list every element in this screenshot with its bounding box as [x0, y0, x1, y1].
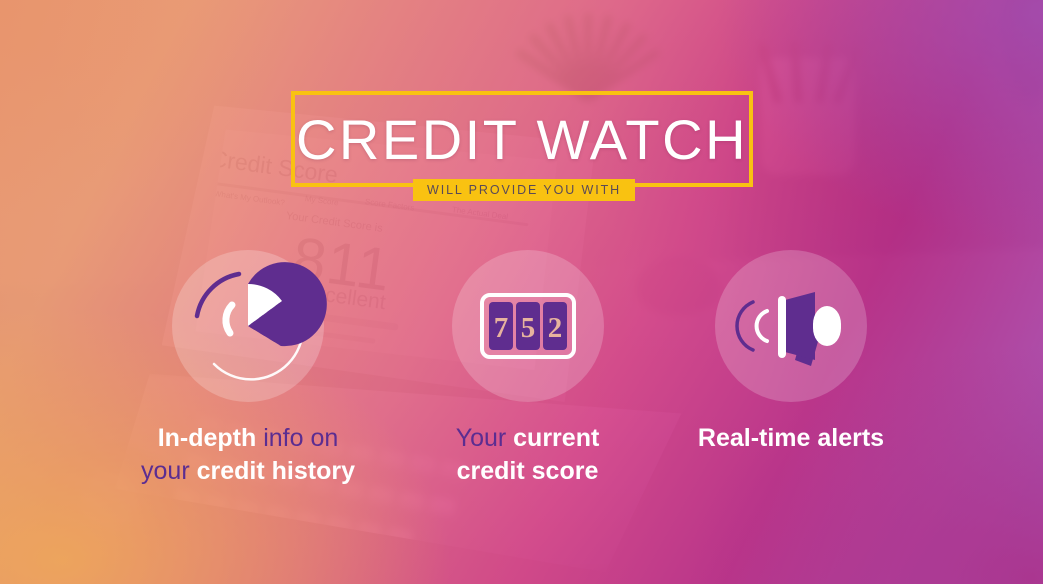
caption-bold-2: credit history: [197, 457, 355, 485]
caption-bold-2: credit score: [457, 457, 599, 485]
features-row: In-depth info on your credit history 7 5…: [0, 250, 1043, 490]
score-digit-2: 5: [520, 312, 535, 344]
caption-bold-1: Real-time alerts: [698, 424, 884, 452]
feature-caption: In-depth info on your credit history: [140, 422, 356, 488]
pie-chart-icon: [183, 261, 313, 391]
credit-score-digits-icon: 7 5 2: [480, 293, 576, 359]
caption-bold-1: In-depth: [158, 424, 257, 452]
caption-bold-1: current: [513, 424, 599, 452]
caption-regular-1: Your: [456, 424, 513, 452]
caption-regular-2: your: [141, 457, 197, 485]
feature-icon-circle: [172, 250, 324, 402]
score-digit-1: 7: [493, 312, 508, 344]
feature-icon-circle: 7 5 2: [452, 250, 604, 402]
page-title: CREDIT WATCH: [291, 91, 753, 187]
feature-credit-history[interactable]: In-depth info on your credit history: [140, 250, 356, 488]
feature-caption: Real-time alerts: [683, 422, 899, 455]
feature-caption: Your current credit score: [420, 422, 635, 488]
slide-content: CREDIT WATCH WILL PROVIDE YOU WITH: [0, 0, 1043, 584]
slide-canvas: Credit Score What's My Outlook? My Score…: [0, 0, 1043, 584]
feature-icon-circle: [715, 250, 867, 402]
score-digit-3: 2: [547, 312, 562, 344]
caption-regular-1: info on: [256, 424, 338, 452]
feature-realtime-alerts[interactable]: Real-time alerts: [683, 250, 899, 455]
subtitle-text: WILL PROVIDE YOU WITH: [427, 183, 621, 197]
subtitle-banner: WILL PROVIDE YOU WITH: [413, 179, 635, 201]
feature-credit-score[interactable]: 7 5 2 Your current credit score: [420, 250, 635, 488]
megaphone-icon: [737, 280, 845, 372]
